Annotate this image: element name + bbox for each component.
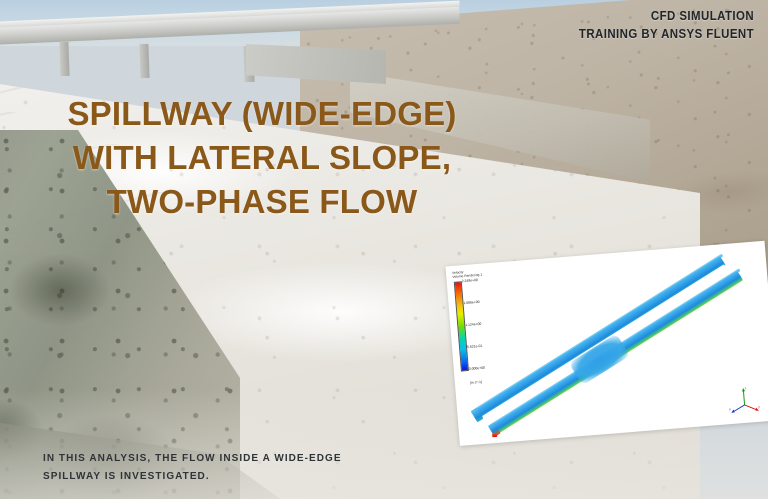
bridge-pier	[59, 42, 69, 76]
poster-root: CFD SIMULATION TRAINING BY ANSYS FLUENT …	[0, 0, 768, 499]
cfd-result-panel: Velocity Volume Rendering 1 2.249e+00 1.…	[422, 222, 768, 459]
caption-line-2: SPILLWAY IS INVESTIGATED.	[43, 468, 423, 486]
bridge-pier	[139, 44, 149, 78]
description-caption: IN THIS ANALYSIS, THE FLOW INSIDE A WIDE…	[43, 450, 423, 485]
bridge-abutment	[246, 44, 386, 84]
title-line-1: SPILLWAY (WIDE-EDGE)	[22, 92, 502, 136]
high-velocity-tip	[492, 433, 497, 437]
axis-triad: z x y	[726, 384, 762, 417]
svg-text:y: y	[758, 405, 760, 409]
header-kicker: CFD SIMULATION TRAINING BY ANSYS FLUENT	[579, 7, 754, 44]
axis-triad-svg: z x y	[726, 384, 762, 417]
caption-line-1: IN THIS ANALYSIS, THE FLOW INSIDE A WIDE…	[43, 450, 423, 468]
cfd-canvas: Velocity Volume Rendering 1 2.249e+00 1.…	[446, 241, 768, 446]
kicker-line-2: TRAINING BY ANSYS FLUENT	[579, 25, 754, 43]
title-line-2: WITH LATERAL SLOPE,	[22, 136, 502, 180]
kicker-line-1: CFD SIMULATION	[579, 7, 754, 25]
channel-a	[473, 256, 726, 420]
title-line-3: TWO-PHASE FLOW	[22, 180, 502, 224]
svg-text:x: x	[729, 407, 731, 411]
page-title: SPILLWAY (WIDE-EDGE) WITH LATERAL SLOPE,…	[22, 92, 502, 225]
spillway-geometry	[446, 241, 768, 446]
svg-text:z: z	[744, 386, 746, 390]
